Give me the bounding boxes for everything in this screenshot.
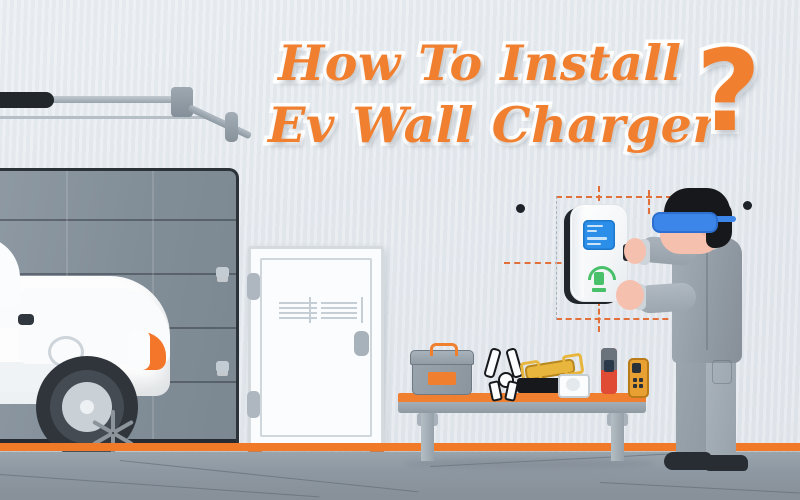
marker-dot-right <box>743 201 752 210</box>
charger-display-screen[interactable] <box>583 220 615 250</box>
floor-seam <box>120 460 418 492</box>
guide-line-vertical-bottom <box>598 300 600 332</box>
circuit-tester-screen <box>632 363 641 373</box>
tester-key <box>639 378 643 382</box>
toolbox-handle <box>430 343 458 356</box>
floor-seam <box>0 474 319 497</box>
guide-line-horizontal-bottom <box>556 318 678 320</box>
garage-door-panel-line <box>0 219 236 221</box>
screen-line <box>587 225 603 227</box>
opener-rail-cap <box>0 92 54 108</box>
panel-door-hinge <box>247 391 260 418</box>
illustration-banner: How To Install Ev Wall Charger ? <box>0 0 800 500</box>
screen-line <box>587 237 607 240</box>
technician-shoe-front <box>702 455 748 471</box>
hubcap-center <box>80 400 94 414</box>
workbench-leg <box>421 413 434 461</box>
marker-dot-left <box>516 204 525 213</box>
opener-trolley <box>171 87 193 117</box>
panel-door-vent-line <box>279 302 317 304</box>
wrench-head-right <box>561 353 584 377</box>
electric-car <box>0 236 180 451</box>
workbench-leg <box>611 413 624 461</box>
tester-key <box>639 384 643 388</box>
floor-seam <box>600 482 800 493</box>
panel-door-vent-line <box>321 302 357 304</box>
guide-line-vertical-right <box>648 190 650 214</box>
panel-door-vent-line <box>321 312 357 314</box>
panel-door-handle[interactable] <box>354 331 369 356</box>
garage-door-roller <box>216 361 229 372</box>
service-panel-door <box>248 246 384 449</box>
panel-door-slot <box>309 297 311 323</box>
tape-roll-core <box>566 378 580 391</box>
screen-line <box>587 230 597 232</box>
battery-indicator-icon <box>594 272 604 285</box>
opener-arm-end <box>225 112 238 142</box>
guide-line-grey-left <box>556 196 557 320</box>
technician-hand-lower <box>616 280 644 310</box>
battery-indicator-base <box>592 288 606 292</box>
coverall-seam <box>706 250 708 350</box>
multimeter-screen <box>604 360 614 372</box>
technician-hand-upper <box>624 238 646 264</box>
panel-door-slot <box>361 297 363 323</box>
safety-goggles-icon <box>652 212 718 233</box>
panel-door-vent-line <box>279 307 317 309</box>
title-line-2: Ev Wall Charger <box>268 96 719 154</box>
coverall-pocket <box>712 360 732 384</box>
toolbox-label-plate <box>428 372 456 385</box>
workbench-top-grey <box>398 402 646 413</box>
panel-door-vent-line <box>321 307 357 309</box>
panel-door-hinge <box>247 273 260 300</box>
panel-door-vent-line <box>279 317 317 319</box>
panel-door-vent-line <box>321 317 357 319</box>
tester-key <box>633 384 637 388</box>
car-mirror-glass <box>18 314 34 325</box>
title-line-1: How To Install <box>278 34 682 92</box>
question-mark: ? <box>696 36 761 148</box>
car-fender <box>128 330 150 370</box>
panel-door-vent-line <box>279 312 317 314</box>
car-roof <box>0 236 20 314</box>
charger-side-lip <box>572 206 584 298</box>
garage-door-roller <box>216 267 229 278</box>
screen-line <box>587 243 601 245</box>
tester-key <box>633 378 637 382</box>
